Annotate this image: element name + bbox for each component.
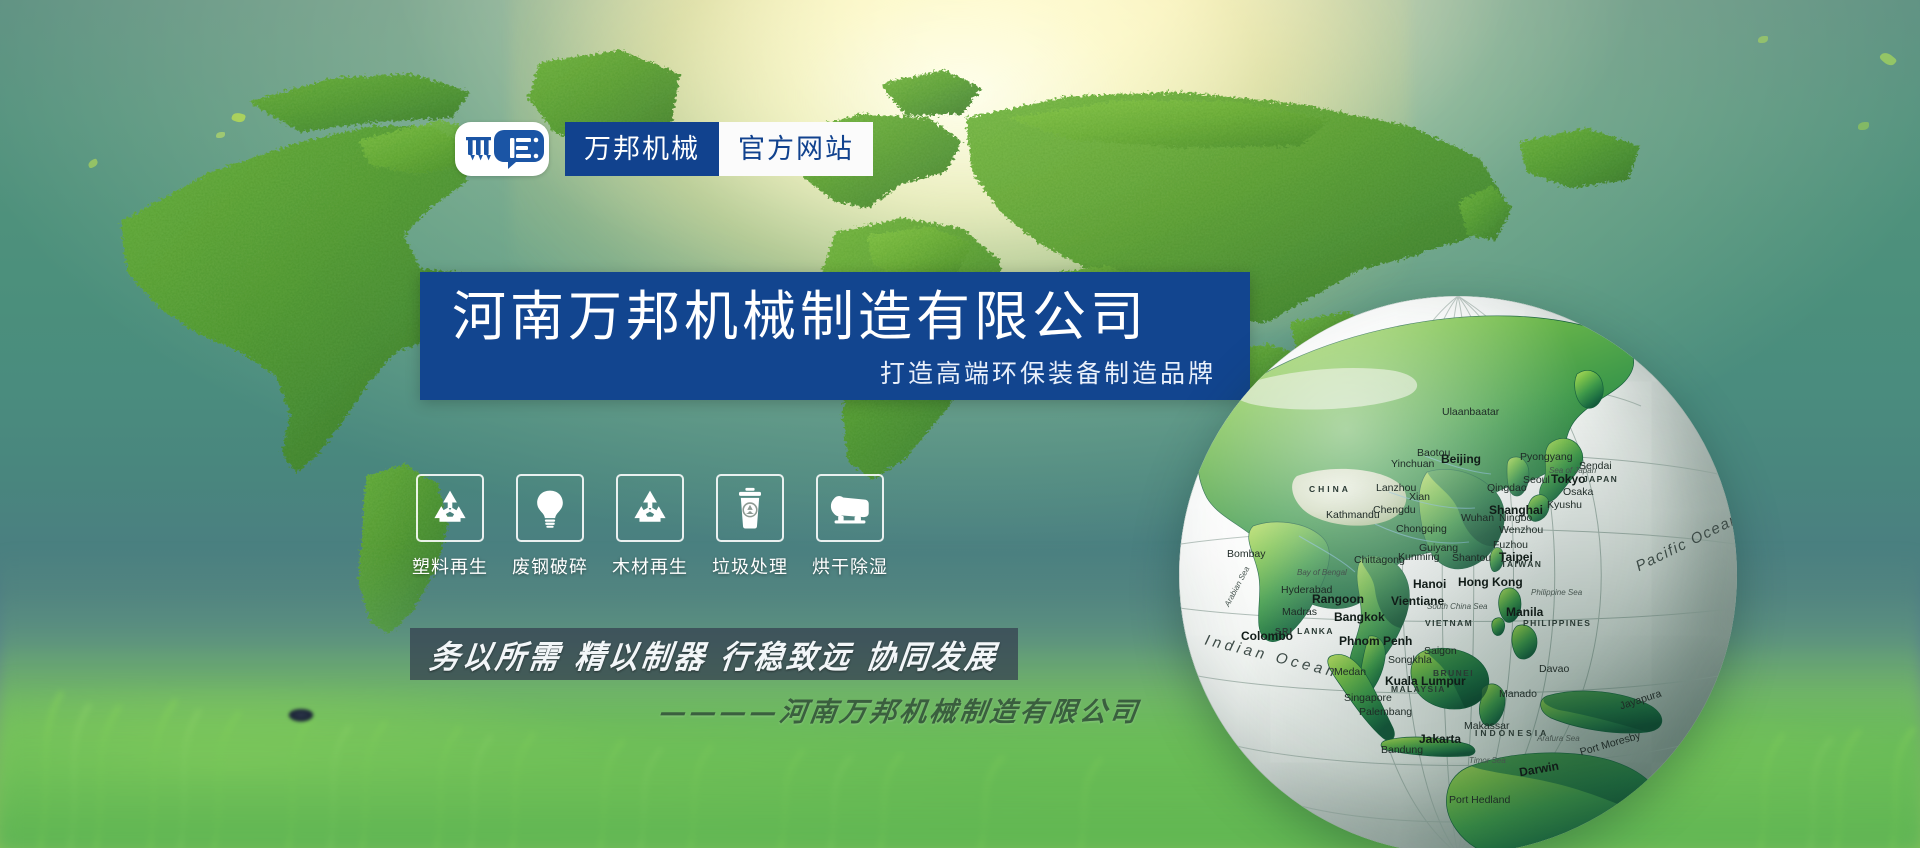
service-label: 废钢破碎 — [512, 553, 588, 579]
service-label: 木材再生 — [612, 553, 688, 579]
brand-tabs[interactable]: 万邦机械 官方网站 — [565, 122, 873, 176]
tab-wanbang-machinery[interactable]: 万邦机械 — [565, 122, 719, 176]
service-icon-strip[interactable]: 塑料再生 废钢破碎 — [416, 474, 884, 579]
service-item-waste-treatment[interactable]: 垃圾处理 — [716, 474, 784, 579]
service-label: 烘干除湿 — [812, 553, 888, 579]
service-item-drying-dehumidification[interactable]: 烘干除湿 — [816, 474, 884, 579]
company-name-banner: 河南万邦机械制造有限公司 打造高端环保装备制造品牌 — [420, 272, 1250, 400]
page-subtitle: 打造高端环保装备制造品牌 — [452, 354, 1216, 390]
rotary-dryer-icon[interactable] — [816, 474, 884, 542]
trash-bin-icon[interactable] — [716, 474, 784, 542]
service-label: 垃圾处理 — [712, 553, 788, 579]
insect-speck — [288, 709, 314, 722]
wanbang-speech-bubble-logo[interactable] — [455, 122, 549, 176]
recycle-icon[interactable] — [616, 474, 684, 542]
slogan-bar: 务以所需 精以制器 行稳致远 协同发展 — [410, 628, 1018, 680]
recycle-icon[interactable] — [416, 474, 484, 542]
hero-banner: 万邦机械 官方网站 河南万邦机械制造有限公司 打造高端环保装备制造品牌 塑料再生 — [0, 0, 1920, 848]
site-logo-row[interactable]: 万邦机械 官方网站 — [455, 122, 873, 176]
lightbulb-icon[interactable] — [516, 474, 584, 542]
service-item-wood-recycling[interactable]: 木材再生 — [616, 474, 684, 579]
service-label: 塑料再生 — [412, 553, 488, 579]
tab-official-website[interactable]: 官方网站 — [719, 122, 873, 176]
service-item-plastic-recycling[interactable]: 塑料再生 — [416, 474, 484, 579]
service-item-scrap-steel-shredding[interactable]: 废钢破碎 — [516, 474, 584, 579]
slogan-text: 务以所需 精以制器 行稳致远 协同发展 — [427, 631, 1001, 678]
page-title: 河南万邦机械制造有限公司 — [452, 286, 1216, 350]
earth-globe: Pacific Ocean Indian Ocean Beijing Shang… — [1179, 296, 1737, 848]
